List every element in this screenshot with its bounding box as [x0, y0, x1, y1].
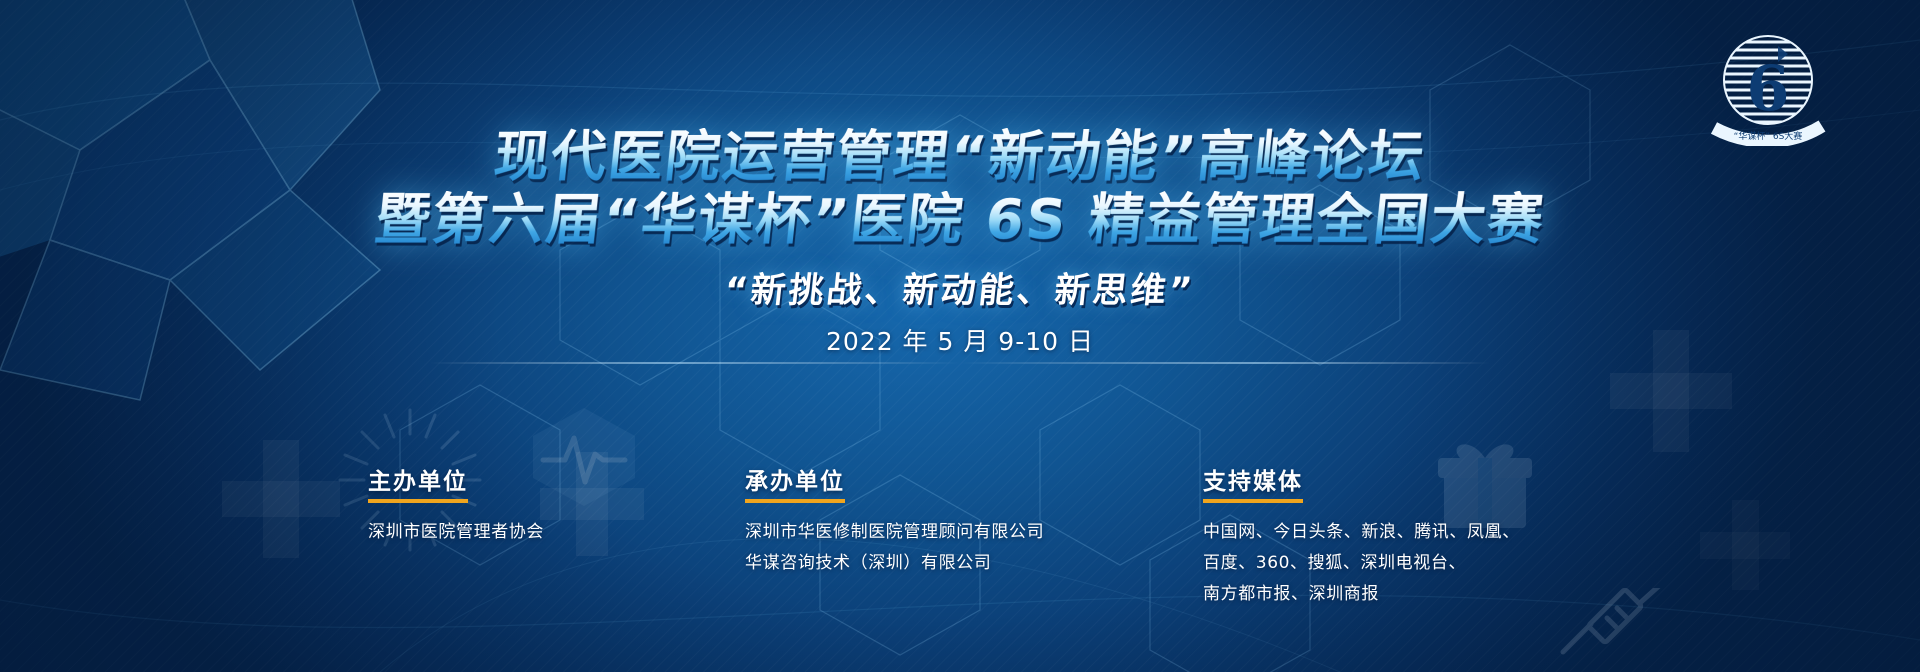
event-date: 2022 年 5 月 9-10 日	[796, 322, 1124, 370]
column-heading: 承办单位	[745, 462, 845, 503]
title-line-2: 暨第六届“华谋杯”医院 6S 精益管理全国大赛	[0, 191, 1920, 248]
title-block: 现代医院运营管理“新动能”高峰论坛 暨第六届“华谋杯”医院 6S 精益管理全国大…	[0, 128, 1920, 248]
column-line: 深圳市医院管理者协会	[368, 517, 544, 548]
column-supporting-media: 支持媒体 中国网、今日头条、新浪、腾讯、凤凰、 百度、360、搜狐、深圳电视台、…	[1203, 462, 1520, 610]
organizer-columns: 主办单位 深圳市医院管理者协会 承办单位 深圳市华医修制医院管理顾问有限公司 华…	[0, 462, 1920, 642]
column-organizer: 主办单位 深圳市医院管理者协会	[368, 462, 544, 548]
column-body: 深圳市医院管理者协会	[368, 517, 544, 548]
subtitle-slogan: “新挑战、新动能、新思维”	[0, 262, 1920, 313]
title-line-1: 现代医院运营管理“新动能”高峰论坛	[0, 128, 1920, 185]
column-line: 百度、360、搜狐、深圳电视台、	[1203, 548, 1520, 579]
column-line: 深圳市华医修制医院管理顾问有限公司	[745, 517, 1044, 548]
column-line: 华谋咨询技术（深圳）有限公司	[745, 548, 1044, 579]
event-banner: 6 “华谋杯” 6S大赛 现代医院运营管理“新动能”高峰论坛 暨第六届“华谋杯”…	[0, 0, 1920, 672]
column-body: 中国网、今日头条、新浪、腾讯、凤凰、 百度、360、搜狐、深圳电视台、 南方都市…	[1203, 517, 1520, 610]
column-heading: 主办单位	[368, 462, 468, 503]
column-co-organizer: 承办单位 深圳市华医修制医院管理顾问有限公司 华谋咨询技术（深圳）有限公司	[745, 462, 1044, 579]
column-heading: 支持媒体	[1203, 462, 1303, 503]
column-body: 深圳市华医修制医院管理顾问有限公司 华谋咨询技术（深圳）有限公司	[745, 517, 1044, 579]
column-line: 南方都市报、深圳商报	[1203, 579, 1520, 610]
event-date-wrapper: 2022 年 5 月 9-10 日	[0, 322, 1920, 370]
svg-text:6: 6	[1746, 52, 1789, 125]
column-line: 中国网、今日头条、新浪、腾讯、凤凰、	[1203, 517, 1520, 548]
